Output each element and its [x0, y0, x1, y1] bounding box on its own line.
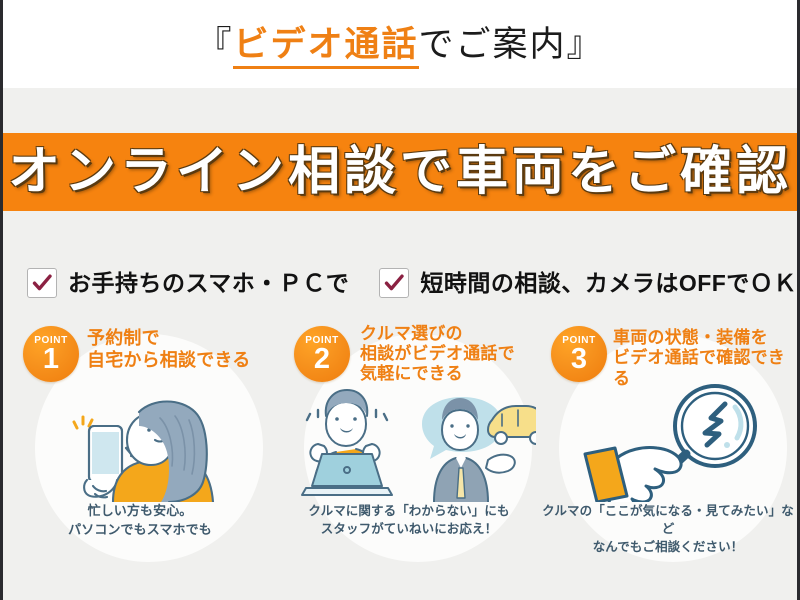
point-title-2: クルマ選びの 相談がビデオ通話で 気軽にできる: [360, 324, 515, 384]
feature-check-row: お手持ちのスマホ・ＰＣで 短時間の相談、カメラはOFFでＯＫ！: [3, 258, 797, 308]
point-caption-2: クルマに関する「わからない」にも スタッフがていねいにお応え！: [278, 502, 540, 538]
feature-check-item-1: お手持ちのスマホ・ＰＣで: [27, 268, 349, 298]
feature-check-label-2: 短時間の相談、カメラはOFFでＯＫ！: [420, 272, 800, 295]
header-tail-text: でご案内』: [419, 25, 604, 64]
point-badge-3: POINT 3: [551, 326, 607, 382]
points-section: POINT 1 予約制で 自宅から相談できる: [3, 322, 797, 572]
feature-check-label-1: お手持ちのスマホ・ＰＣで: [68, 272, 349, 295]
check-icon: [379, 268, 409, 298]
point-badge-number: 1: [43, 345, 59, 374]
headline-band: オンライン相談で車両をご確認: [3, 133, 797, 211]
woman-at-laptop-and-staff-with-car-illustration: [296, 384, 536, 502]
header-bracket-open: 『: [196, 25, 233, 64]
promo-banner: 『ビデオ通話でご案内』 オンライン相談で車両をご確認 お手持ちのスマホ・ＰＣで …: [0, 0, 800, 600]
point-card-3: POINT 3 車両の状態・装備を ビデオ通話で確認できる: [537, 322, 799, 572]
header-highlight-text: ビデオ通話: [233, 25, 418, 69]
header-title: 『ビデオ通話でご案内』: [196, 27, 603, 62]
point-title-1: 予約制で 自宅から相談できる: [87, 328, 250, 371]
hand-with-magnifier-illustration: [555, 384, 795, 502]
point-badge-1: POINT 1: [23, 326, 79, 382]
point-card-1: POINT 1 予約制で 自宅から相談できる: [9, 322, 271, 572]
point-title-3: 車両の状態・装備を ビデオ通話で確認できる: [613, 328, 799, 389]
point-caption-3: クルマの「ここが気になる・見てみたい」など なんでもご相談ください！: [537, 502, 799, 556]
point-caption-1: 忙しい方も安心。 パソコンでもスマホでも: [9, 502, 271, 540]
point-badge-number: 3: [571, 345, 587, 374]
check-icon: [27, 268, 57, 298]
point-badge-number: 2: [314, 345, 330, 374]
headline-text: オンライン相談で車両をご確認: [8, 146, 792, 198]
feature-check-item-2: 短時間の相談、カメラはOFFでＯＫ！: [379, 268, 800, 298]
header-bar: 『ビデオ通話でご案内』: [3, 0, 797, 88]
woman-with-smartphone-illustration: [27, 384, 267, 502]
point-badge-2: POINT 2: [294, 326, 350, 382]
point-card-2: POINT 2 クルマ選びの 相談がビデオ通話で 気軽にできる: [278, 322, 540, 572]
